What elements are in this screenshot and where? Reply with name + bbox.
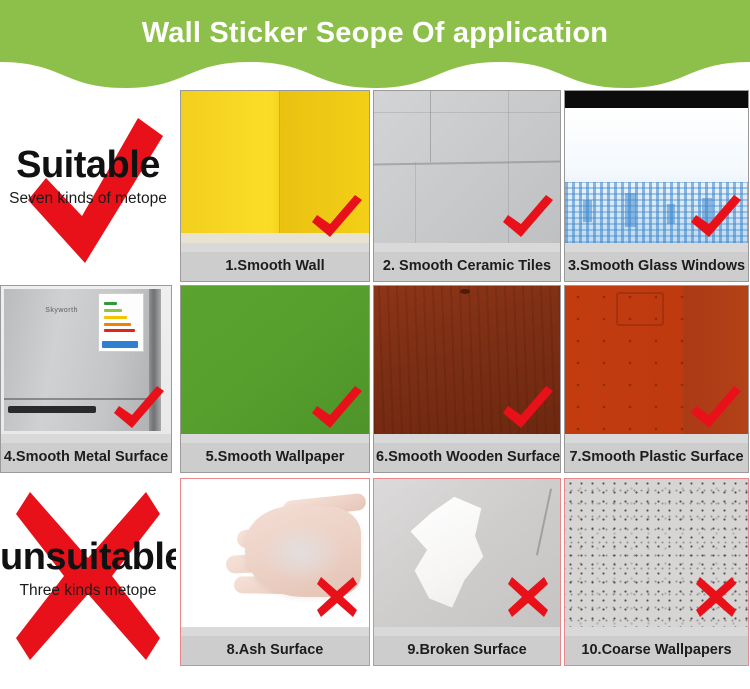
surface-label-6: 6.Smooth Wooden Surface [374, 443, 560, 472]
surface-image-1 [181, 91, 369, 243]
surface-image-3 [565, 91, 748, 243]
surface-image-7 [565, 286, 748, 434]
surface-card-1[interactable]: 1.Smooth Wall [180, 90, 370, 282]
surface-label-9: 9.Broken Surface [374, 636, 560, 665]
surface-card-2[interactable]: 2. Smooth Ceramic Tiles [373, 90, 561, 282]
surface-image-9 [374, 479, 560, 627]
surface-image-5 [181, 286, 369, 434]
surface-card-7[interactable]: 7.Smooth Plastic Surface [564, 285, 749, 473]
coarse-texture-art [565, 479, 748, 627]
surface-label-4: 4.Smooth Metal Surface [1, 443, 171, 472]
surface-label-2: 2. Smooth Ceramic Tiles [374, 252, 560, 281]
broken-paint-art [374, 479, 560, 627]
page-title: Wall Sticker Seope Of application [0, 17, 750, 50]
surface-label-1: 1.Smooth Wall [181, 252, 369, 281]
suitable-title: Suitable [0, 146, 176, 184]
suitable-subtitle: Seven kinds of metope [0, 190, 176, 208]
ceramic-tile-art [374, 91, 560, 243]
page-header: Wall Sticker Seope Of application [0, 0, 750, 88]
surface-card-5[interactable]: 5.Smooth Wallpaper [180, 285, 370, 473]
surface-label-3: 3.Smooth Glass Windows [565, 252, 748, 281]
glass-window-art [565, 91, 748, 243]
surface-card-10[interactable]: 10.Coarse Wallpapers [564, 478, 749, 666]
green-wallpaper-art [181, 286, 369, 434]
wood-grain-art [374, 286, 560, 434]
surface-card-8[interactable]: 8.Ash Surface [180, 478, 370, 666]
yellow-wall-art [181, 91, 369, 243]
surface-label-7: 7.Smooth Plastic Surface [565, 443, 748, 472]
surface-label-8: 8.Ash Surface [181, 636, 369, 665]
surface-grid: Suitable Seven kinds of metope 1.Smooth … [0, 88, 750, 689]
surface-image-6 [374, 286, 560, 434]
fridge-brand-label: Skyworth [45, 307, 78, 314]
surface-card-9[interactable]: 9.Broken Surface [373, 478, 561, 666]
metal-fridge-art: Skyworth [1, 286, 171, 434]
surface-card-4[interactable]: Skyworth 4.Smooth Metal Surface [0, 285, 172, 473]
surface-label-5: 5.Smooth Wallpaper [181, 443, 369, 472]
surface-image-2 [374, 91, 560, 243]
surface-card-6[interactable]: 6.Smooth Wooden Surface [373, 285, 561, 473]
unsuitable-title: unsuitable [0, 538, 176, 576]
surface-image-4: Skyworth [1, 286, 171, 434]
surface-image-10 [565, 479, 748, 627]
red-plastic-art [565, 286, 748, 434]
unsuitable-subtitle: Three kinds metope [0, 582, 176, 600]
surface-label-10: 10.Coarse Wallpapers [565, 636, 748, 665]
unsuitable-panel: unsuitable Three kinds metope [0, 476, 176, 676]
surface-card-3[interactable]: 3.Smooth Glass Windows [564, 90, 749, 282]
dusty-hand-art [181, 479, 369, 627]
surface-image-8 [181, 479, 369, 627]
suitable-panel: Suitable Seven kinds of metope [0, 88, 176, 282]
